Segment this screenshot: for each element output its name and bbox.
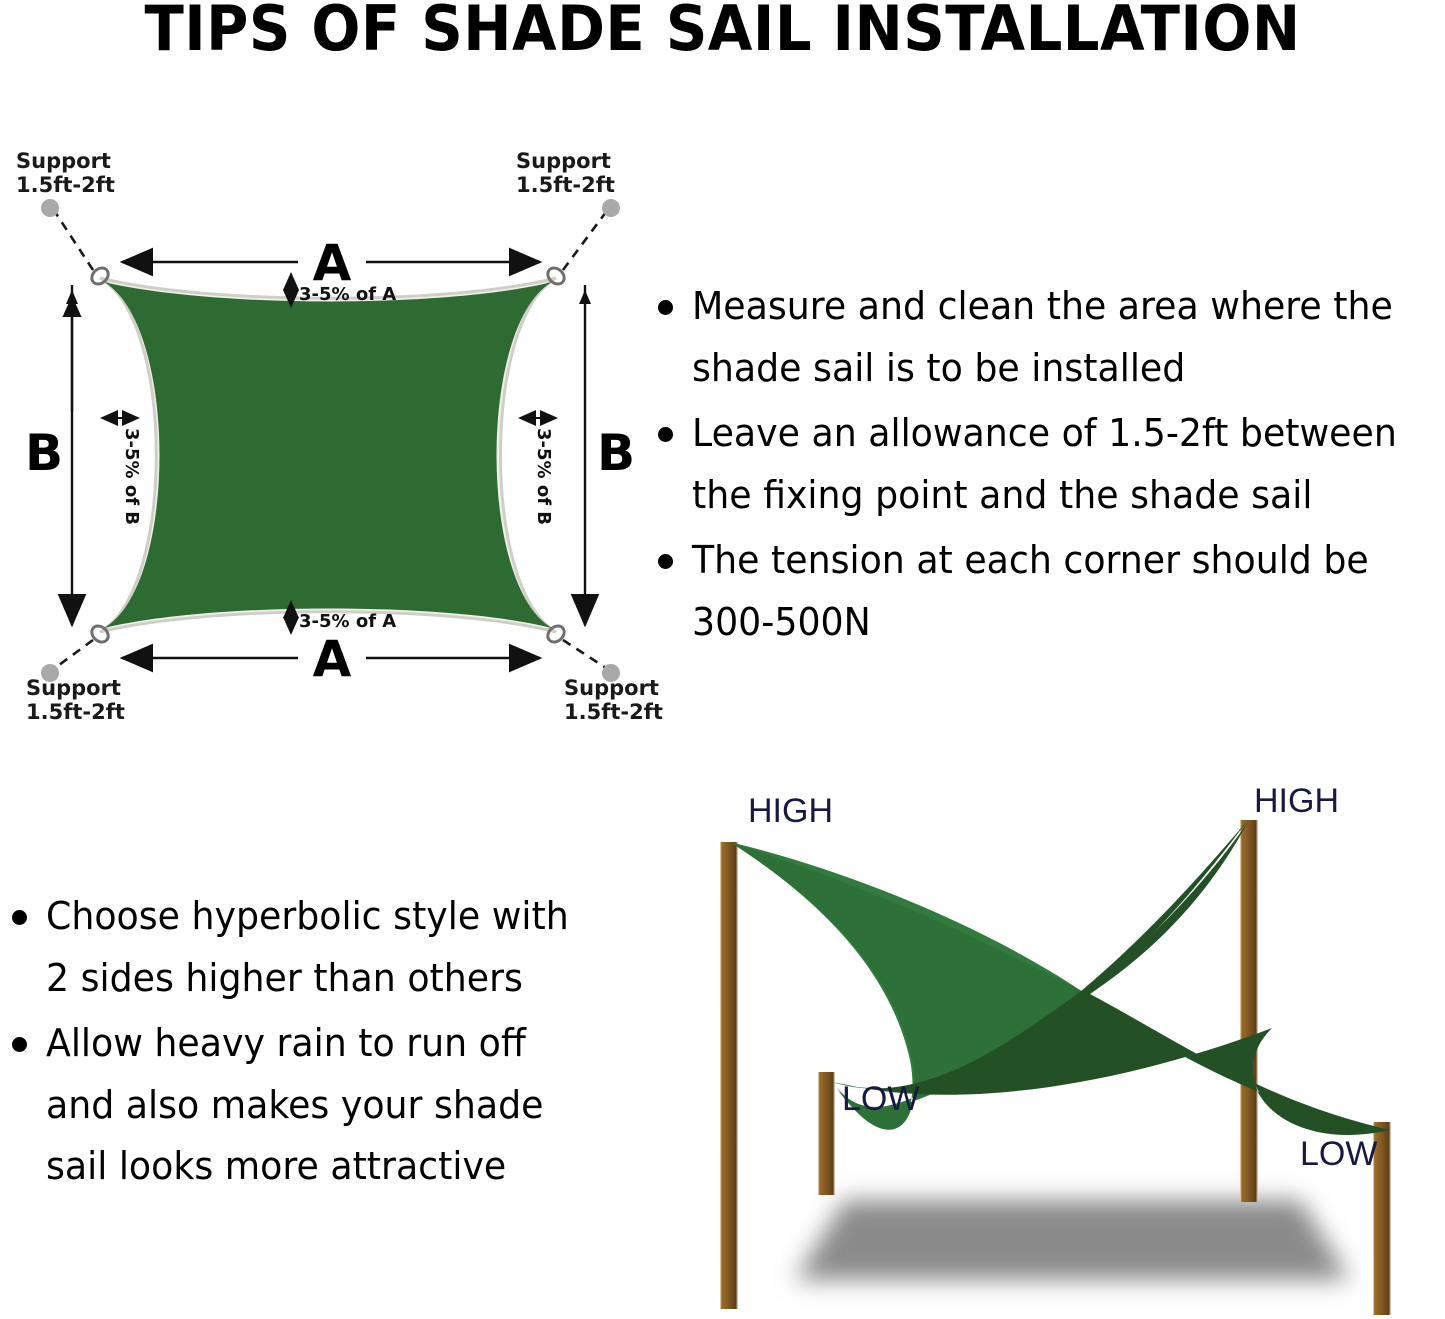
- tip-text: Choose hyperbolic style with 2 sides hig…: [46, 886, 596, 1009]
- ground-shadow: [795, 1200, 1350, 1280]
- support-label-bottom-right: Support 1.5ft-2ft: [564, 676, 663, 724]
- pole-left-front: [818, 1072, 835, 1195]
- pole-label-high-right: HIGH: [1254, 782, 1339, 820]
- pole-right-back: [1240, 820, 1258, 1202]
- support-label-line2: 1.5ft-2ft: [16, 173, 115, 197]
- support-label-line1: Support: [516, 150, 611, 173]
- curve-depth-label-right: 3-5% of B: [533, 428, 554, 525]
- pole-left-back: [720, 842, 738, 1309]
- rectangular-sail-diagram: Support 1.5ft-2ft Support 1.5ft-2ft Supp…: [0, 150, 680, 730]
- arrow-up-left-B: [66, 290, 78, 304]
- pole-label-low-right: LOW: [1300, 1135, 1377, 1173]
- support-label-line1: Support: [16, 150, 111, 173]
- tip-text: The tension at each corner should be 300…: [692, 530, 1414, 653]
- support-label-line2: 1.5ft-2ft: [26, 700, 125, 724]
- shade-sail-body: [104, 282, 552, 628]
- tip-item: Measure and clean the area where the sha…: [648, 276, 1445, 399]
- dimension-label-bottom-A: A: [313, 630, 352, 688]
- dimension-label-right-B: B: [597, 424, 635, 482]
- support-label-top-right: Support 1.5ft-2ft: [516, 150, 615, 197]
- support-label-line2: 1.5ft-2ft: [564, 700, 663, 724]
- support-label-line2: 1.5ft-2ft: [516, 173, 615, 197]
- support-label-line1: Support: [26, 676, 121, 700]
- pole-label-low-left: LOW: [842, 1080, 919, 1118]
- tip-text: Measure and clean the area where the sha…: [692, 276, 1414, 399]
- tip-item: Allow heavy rain to run off and also mak…: [2, 1013, 622, 1198]
- curve-depth-label-top: 3-5% of A: [299, 284, 396, 305]
- tips-list-top: Measure and clean the area where the sha…: [648, 276, 1445, 657]
- curve-depth-label-left: 3-5% of B: [121, 428, 142, 525]
- tip-item: Leave an allowance of 1.5-2ft between th…: [648, 403, 1445, 526]
- support-label-bottom-left: Support 1.5ft-2ft: [26, 676, 125, 724]
- tip-text: Allow heavy rain to run off and also mak…: [46, 1013, 596, 1198]
- curve-depth-label-bottom: 3-5% of A: [299, 611, 396, 632]
- support-label-line1: Support: [564, 676, 659, 700]
- support-label-top-left: Support 1.5ft-2ft: [16, 150, 115, 197]
- tip-item: Choose hyperbolic style with 2 sides hig…: [2, 886, 622, 1009]
- pole-label-high-left: HIGH: [748, 792, 833, 830]
- dimension-label-left-B: B: [25, 424, 63, 482]
- infographic-page: TIPS OF SHADE SAIL INSTALLATION: [0, 0, 1445, 1319]
- tips-list-bottom: Choose hyperbolic style with 2 sides hig…: [2, 886, 622, 1202]
- tip-text: Leave an allowance of 1.5-2ft between th…: [692, 403, 1414, 526]
- hyperbolic-sail-diagram: HIGH HIGH LOW LOW: [660, 780, 1445, 1319]
- tip-item: The tension at each corner should be 300…: [648, 530, 1445, 653]
- arrow-up-right-B: [579, 290, 591, 304]
- page-title: TIPS OF SHADE SAIL INSTALLATION: [51, 0, 1395, 61]
